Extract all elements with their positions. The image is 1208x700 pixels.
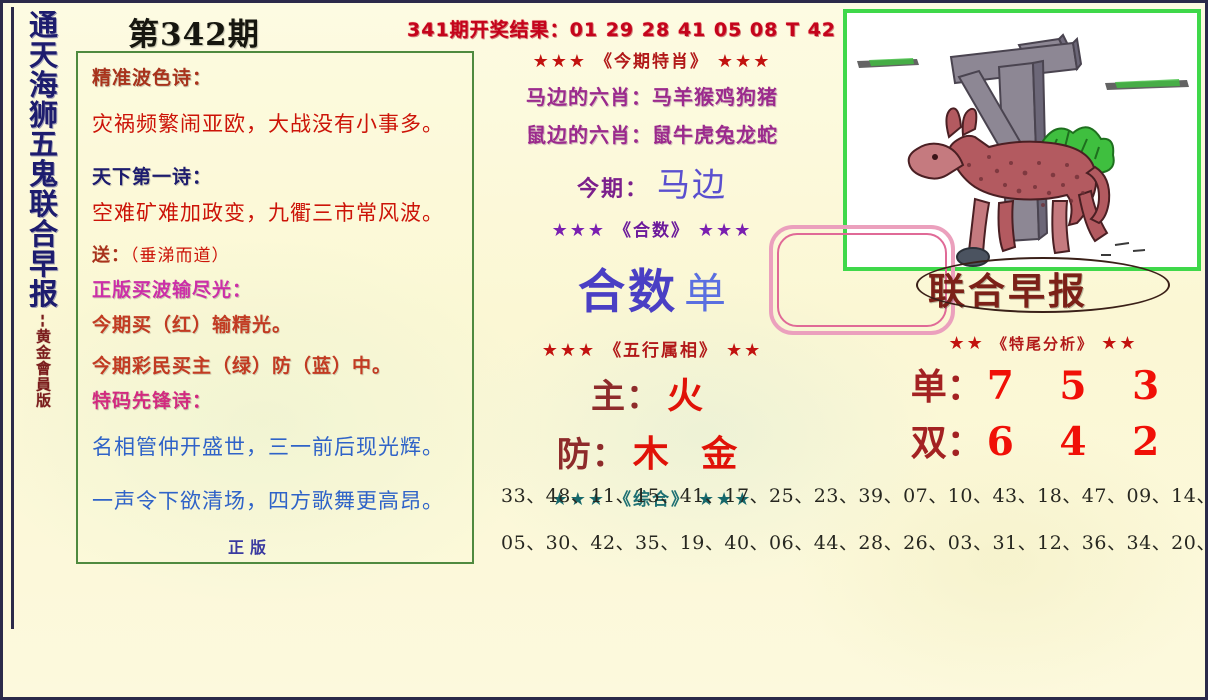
stars-right-icon: ★★★ bbox=[717, 51, 771, 72]
stars-right-icon: ★★ bbox=[726, 340, 762, 361]
masthead-char: 联 bbox=[29, 190, 58, 220]
masthead-subtitle: --黄金會員版 bbox=[33, 314, 54, 408]
masthead-vertical-title: 通 天 海 狮 五 鬼 联 合 早 报 --黄金會員版 bbox=[11, 7, 73, 629]
buy-line-2: 今期彩民买主（绿）防（蓝）中。 bbox=[92, 351, 460, 378]
label-bose-poem: 精准波色诗： bbox=[92, 63, 460, 90]
masthead-char: 海 bbox=[29, 71, 58, 101]
dan-label: 单： bbox=[911, 366, 983, 408]
masthead-char: 报 bbox=[29, 280, 58, 310]
dan-value: 7 5 3 bbox=[987, 363, 1176, 409]
section-header-teiwei: ★★ 《特尾分析》 ★★ bbox=[893, 333, 1193, 354]
brand-stamp: 联合早报 bbox=[928, 261, 1088, 315]
buy-line-1: 今期买（红）输精光。 bbox=[92, 310, 460, 337]
zodiac-row-shu: 鼠边的六肖：鼠牛虎兔龙蛇 bbox=[487, 119, 817, 148]
stars-left-icon: ★★★ bbox=[552, 220, 606, 241]
stars-right-icon: ★★★ bbox=[698, 220, 752, 241]
masthead-char: 鬼 bbox=[29, 160, 58, 190]
heshu-value: 单 bbox=[684, 269, 726, 318]
masthead-char: 通 bbox=[29, 11, 58, 41]
wuxing-zhu-label: 主： bbox=[591, 377, 661, 417]
stars-left-icon: ★★ bbox=[948, 333, 984, 354]
current-pick-value: 马边 bbox=[657, 165, 727, 204]
lottery-poster: 通 天 海 狮 五 鬼 联 合 早 报 --黄金會員版 第342期 341期开奖… bbox=[0, 0, 1208, 700]
section-title-teiwei: 《特尾分析》 bbox=[992, 335, 1094, 353]
poem-panel: 精准波色诗： 灾祸频繁闹亚欧，大战没有小事多。 天下第一诗： 空难矿难加政变，九… bbox=[76, 51, 474, 564]
section-title-wuxing: 《五行属相》 bbox=[604, 341, 718, 361]
section-title-heshu: 《合数》 bbox=[614, 221, 690, 241]
zodiac-row-ma: 马边的六肖：马羊猴鸡狗猪 bbox=[487, 81, 817, 110]
wuxing-fang-value: 木 金 bbox=[633, 433, 748, 475]
send-line: 送：（垂涕而道） bbox=[92, 241, 460, 267]
send-prefix: 送： bbox=[92, 245, 130, 266]
current-pick-label: 今期： bbox=[577, 177, 649, 202]
number-list: 33、48、11、15、41、17、25、23、39、07、10、43、18、4… bbox=[501, 481, 1191, 575]
shuang-label: 双： bbox=[911, 422, 983, 464]
dan-row: 单：7 5 3 bbox=[893, 358, 1193, 410]
masthead-char: 天 bbox=[29, 41, 58, 71]
verse-tema-2: 一声令下欲清场，四方歌舞更高昂。 bbox=[92, 485, 460, 515]
number-row-2: 05、30、42、35、19、40、06、44、28、26、03、31、12、3… bbox=[501, 528, 1191, 555]
center-column: ★★★ 《今期特肖》 ★★★ 马边的六肖：马羊猴鸡狗猪 鼠边的六肖：鼠牛虎兔龙蛇… bbox=[487, 47, 817, 510]
stars-left-icon: ★★★ bbox=[542, 340, 596, 361]
issue-title: 第342期 bbox=[128, 9, 260, 54]
heshu-label: 合数 bbox=[578, 265, 678, 320]
tail-analysis-block: ★★ 《特尾分析》 ★★ 单：7 5 3 双：6 4 2 bbox=[893, 333, 1193, 466]
label-zhengban: 正版买波输尽光： bbox=[92, 275, 460, 302]
shuang-value: 6 4 2 bbox=[987, 419, 1176, 465]
masthead-char: 狮 bbox=[29, 101, 58, 131]
wuxing-zhu-value: 火 bbox=[667, 375, 713, 417]
draw-result-banner: 341期开奖结果：01 29 28 41 05 08 T 42 bbox=[407, 15, 836, 42]
number-row-1: 33、48、11、15、41、17、25、23、39、07、10、43、18、4… bbox=[501, 481, 1191, 508]
verse-tianxia: 空难矿难加政变，九衢三市常风波。 bbox=[92, 197, 460, 227]
section-header-texiao: ★★★ 《今期特肖》 ★★★ bbox=[487, 47, 817, 72]
shuang-row: 双：6 4 2 bbox=[893, 414, 1193, 466]
wuxing-zhu-row: 主：火 bbox=[487, 367, 817, 419]
masthead-char: 五 bbox=[29, 130, 58, 160]
heshu-result: 合数单 bbox=[487, 253, 817, 322]
wuxing-fang-row: 防：木 金 bbox=[487, 425, 817, 477]
label-tema-pioneer: 特码先锋诗： bbox=[92, 386, 460, 413]
section-header-heshu: ★★★ 《合数》 ★★★ bbox=[487, 216, 817, 241]
wuxing-fang-label: 防： bbox=[557, 435, 627, 475]
stars-left-icon: ★★★ bbox=[533, 51, 587, 72]
masthead-char: 早 bbox=[29, 250, 58, 280]
verse-bose: 灾祸频繁闹亚欧，大战没有小事多。 bbox=[92, 108, 460, 138]
section-title-texiao: 《今期特肖》 bbox=[595, 52, 709, 72]
section-header-wuxing: ★★★ 《五行属相》 ★★ bbox=[487, 336, 817, 361]
masthead-char: 合 bbox=[29, 220, 58, 250]
panel-footer-mark: 正版 bbox=[228, 534, 272, 558]
send-value: （垂涕而道） bbox=[130, 246, 230, 266]
stars-right-icon: ★★ bbox=[1101, 333, 1137, 354]
label-tianxia-poem: 天下第一诗： bbox=[92, 162, 460, 189]
verse-tema-1: 名相管仲开盛世，三一前后现光辉。 bbox=[92, 431, 460, 461]
brand-stamp-text: 联合早报 bbox=[928, 270, 1088, 313]
current-pick: 今期：马边 bbox=[487, 158, 817, 206]
